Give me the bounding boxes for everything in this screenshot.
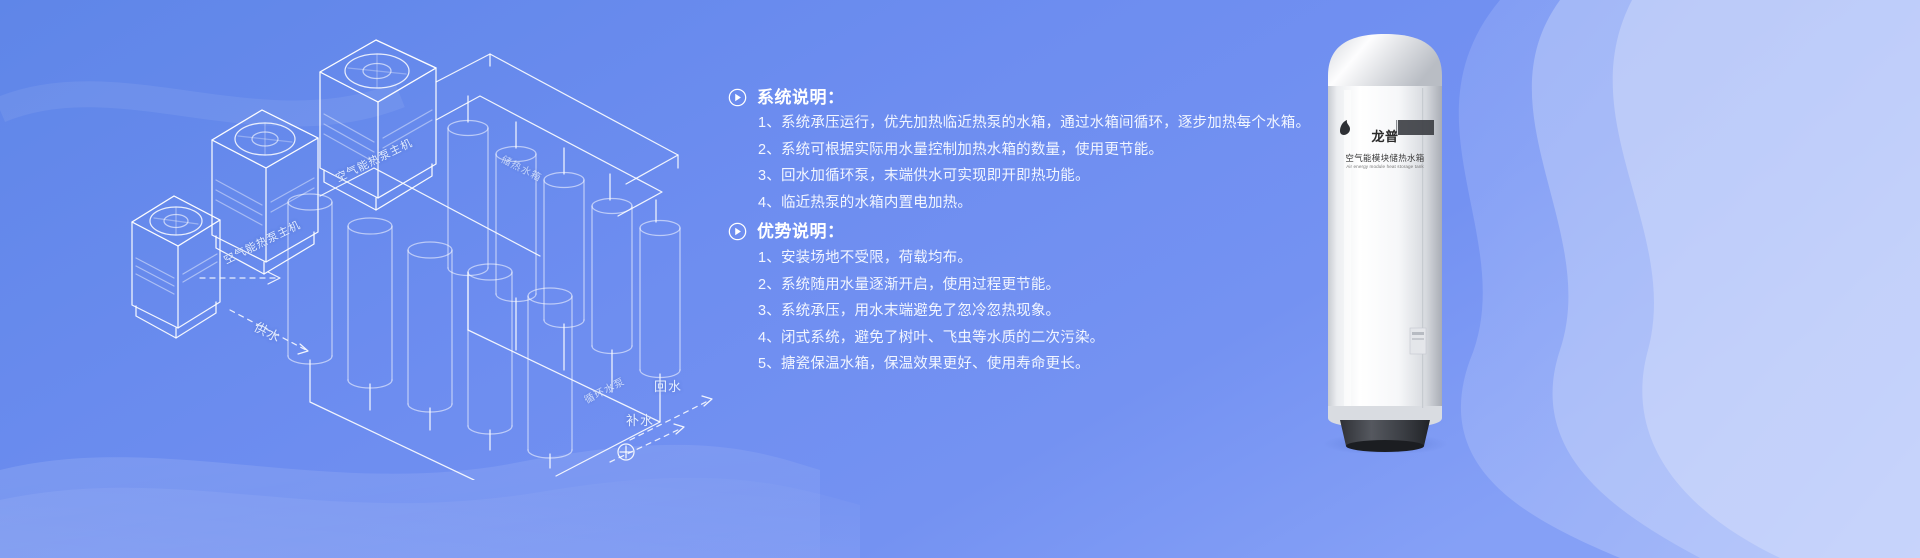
system-description-item-3: 3、回水加循环泵，末端供水可实现即开即热功能。	[758, 169, 1348, 184]
section-advantage-description: 优势说明： 1、安装场地不受限，荷载均布。 2、系统随用水量逐渐开启，使用过程更…	[728, 222, 1348, 372]
advantage-description-item-3: 3、系统承压，用水末端避免了忽冷忽热现象。	[758, 304, 1348, 319]
play-circle-icon	[728, 222, 747, 241]
promo-banner: 空气能热泵主机 空气能热泵主机 储热水箱 供水 循环水泵 回水 补水 系统说明：…	[0, 0, 1920, 558]
system-description-item-2: 2、系统可根据实际用水量控制加热水箱的数量，使用更节能。	[758, 143, 1348, 158]
advantage-description-header: 优势说明：	[728, 222, 1348, 241]
system-description-item-4: 4、临近热泵的水箱内置电加热。	[758, 196, 1348, 211]
advantage-description-item-1: 1、安装场地不受限，荷载均布。	[758, 251, 1348, 266]
floor-piping	[310, 272, 660, 480]
heat-pump-unit-small	[132, 196, 220, 338]
system-description-item-1: 1、系统承压运行，优先加热临近热泵的水箱，通过水箱间循环，逐步加热每个水箱。	[758, 116, 1348, 131]
system-description-header: 系统说明：	[728, 88, 1348, 107]
description-panel: 系统说明： 1、系统承压运行，优先加热临近热泵的水箱，通过水箱间循环，逐步加热每…	[728, 88, 1348, 384]
diagram-label-return-water: 回水	[654, 376, 682, 395]
system-schematic: 空气能热泵主机 空气能热泵主机 储热水箱 供水 循环水泵 回水 补水	[70, 10, 770, 480]
heat-pump-unit-large	[320, 40, 436, 210]
circulation-pump-icon	[618, 444, 634, 460]
diagram-label-makeup-water: 补水	[626, 410, 654, 429]
product-image: 龙普 空气能模块储热水箱 Air energy module heat stor…	[1310, 28, 1460, 453]
system-description-title: 系统说明：	[757, 89, 845, 106]
flow-arrows	[200, 278, 710, 462]
play-circle-icon	[728, 88, 747, 107]
section-system-description: 系统说明： 1、系统承压运行，优先加热临近热泵的水箱，通过水箱间循环，逐步加热每…	[728, 88, 1348, 210]
advantage-description-item-5: 5、搪瓷保温水箱，保温效果更好、使用寿命更长。	[758, 357, 1348, 372]
advantage-description-item-2: 2、系统随用水量逐渐开启，使用过程更节能。	[758, 278, 1348, 293]
advantage-description-title: 优势说明：	[757, 223, 845, 240]
advantage-description-item-4: 4、闭式系统，避免了树叶、飞虫等水质的二次污染。	[758, 331, 1348, 346]
